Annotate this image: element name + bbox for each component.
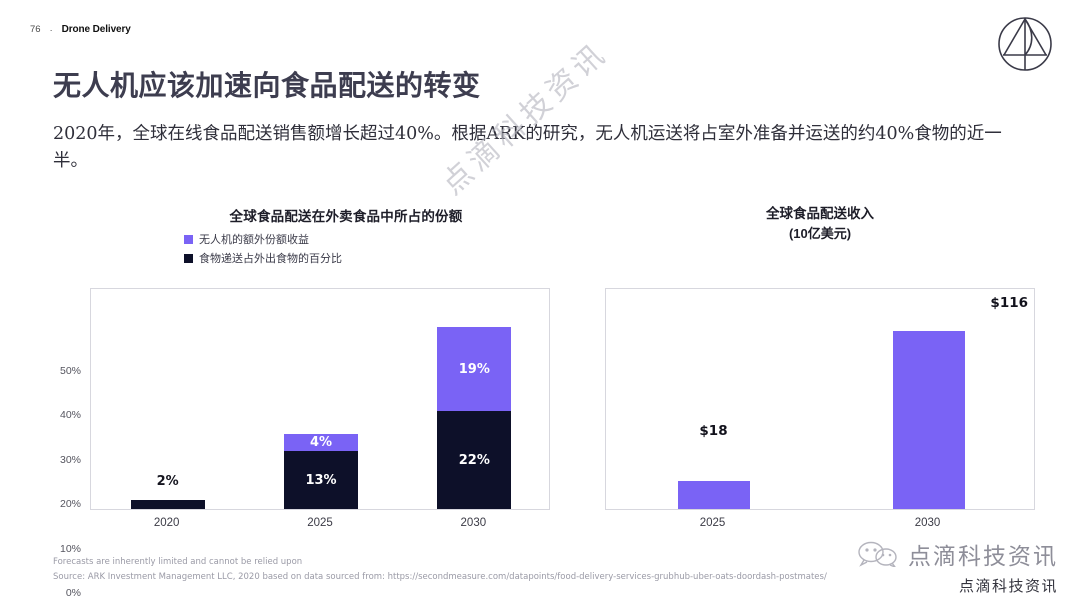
right-chart-header: 全球食品配送收入 (10亿美元) xyxy=(600,205,1040,242)
corner-watermark: 点滴科技资讯 点滴科技资讯 xyxy=(857,537,1058,596)
bar-group[interactable]: 2% xyxy=(131,500,205,509)
left-chart-y-axis: 0%10%20%30%40%50% xyxy=(46,288,86,510)
y-tick-label: 40% xyxy=(60,409,81,421)
legend-swatch-dark xyxy=(184,254,193,263)
section-brand: Drone Delivery xyxy=(62,24,131,35)
bar-segment-food-delivery-share[interactable]: 22% xyxy=(437,411,511,509)
page-lede: 2020年，全球在线食品配送销售额增长超过40%。根据ARK的研究，无人机运送将… xyxy=(53,121,1028,175)
left-chart: 全球食品配送在外卖食品中所占的份额 无人机的额外份额收益 食物递送占外出食物的百… xyxy=(46,205,556,535)
kicker-separator: · xyxy=(50,25,53,35)
bar-value-label: 22% xyxy=(459,453,490,468)
bar-value-label: 19% xyxy=(459,362,490,377)
left-chart-title: 全球食品配送在外卖食品中所占的份额 xyxy=(176,205,516,225)
bar-group[interactable]: 4%13% xyxy=(284,434,358,509)
legend-label-drone-gain: 无人机的额外份额收益 xyxy=(199,231,309,247)
x-tick-label: 2030 xyxy=(915,517,941,529)
x-tick-label: 2025 xyxy=(307,517,333,529)
page-number: 76 xyxy=(30,24,41,35)
footnote-disclaimer: Forecasts are inherently limited and can… xyxy=(53,555,827,571)
right-chart-bars: $18$116 xyxy=(606,289,1034,509)
x-tick-label: 2020 xyxy=(154,517,180,529)
bar-segment-food-delivery-share[interactable]: 13% xyxy=(284,451,358,509)
y-tick-label: 50% xyxy=(60,365,81,377)
bar-value-label: 2% xyxy=(157,474,179,489)
bar-value-label: 13% xyxy=(305,473,336,488)
right-chart-title: 全球食品配送收入 xyxy=(600,205,1040,223)
legend-swatch-purple xyxy=(184,235,193,244)
bar-value-label: $18 xyxy=(674,423,754,439)
left-chart-bars: 2%4%13%19%22% xyxy=(91,289,549,509)
slide-kicker: 76 · Drone Delivery xyxy=(30,24,131,35)
x-tick-label: 2030 xyxy=(461,517,487,529)
legend-item-food-delivery-share: 食物递送占外出食物的百分比 xyxy=(184,250,516,266)
bar[interactable] xyxy=(678,481,750,509)
legend-item-drone-gain: 无人机的额外份额收益 xyxy=(184,231,516,247)
corner-watermark-text-top: 点滴科技资讯 xyxy=(908,537,1058,571)
bar-segment-drone-gain[interactable]: 19% xyxy=(437,327,511,411)
left-chart-legend: 无人机的额外份额收益 食物递送占外出食物的百分比 xyxy=(176,231,516,266)
slide-root: 76 · Drone Delivery 无人机应该加速向食品配送的转变 2020… xyxy=(0,0,1080,608)
wechat-icon xyxy=(857,541,899,567)
left-chart-header: 全球食品配送在外卖食品中所占的份额 无人机的额外份额收益 食物递送占外出食物的百… xyxy=(176,205,516,266)
bar[interactable] xyxy=(893,331,965,509)
bar-segment-food-delivery-share[interactable]: 2% xyxy=(131,500,205,509)
y-tick-label: 0% xyxy=(66,587,81,599)
legend-label-food-delivery-share: 食物递送占外出食物的百分比 xyxy=(199,250,342,266)
y-tick-label: 30% xyxy=(60,454,81,466)
footnotes: Forecasts are inherently limited and can… xyxy=(53,555,827,586)
bar-value-label: 4% xyxy=(310,435,332,450)
right-chart-x-axis: 20252030 xyxy=(605,517,1035,537)
bar-value-label: $116 xyxy=(990,295,1028,311)
right-chart-subtitle: (10亿美元) xyxy=(600,223,1040,242)
ark-logo-icon xyxy=(994,13,1056,75)
y-tick-label: 20% xyxy=(60,498,81,510)
left-chart-plot-area: 2%4%13%19%22% xyxy=(90,288,550,510)
corner-watermark-top: 点滴科技资讯 xyxy=(857,537,1058,571)
right-chart-plot-area: $18$116 xyxy=(605,288,1035,510)
y-tick-label: 10% xyxy=(60,543,81,555)
footnote-source: Source: ARK Investment Management LLC, 2… xyxy=(53,570,827,586)
left-chart-x-axis: 202020252030 xyxy=(90,517,550,537)
diagonal-watermark: 点滴科技资讯 xyxy=(430,29,616,202)
right-chart: 全球食品配送收入 (10亿美元) $18$116 20252030 xyxy=(600,205,1040,535)
x-tick-label: 2025 xyxy=(700,517,726,529)
bar-segment-drone-gain[interactable]: 4% xyxy=(284,434,358,452)
corner-watermark-text-bottom: 点滴科技资讯 xyxy=(857,575,1058,596)
page-title: 无人机应该加速向食品配送的转变 xyxy=(53,64,481,104)
bar-group[interactable]: 19%22% xyxy=(437,327,511,509)
